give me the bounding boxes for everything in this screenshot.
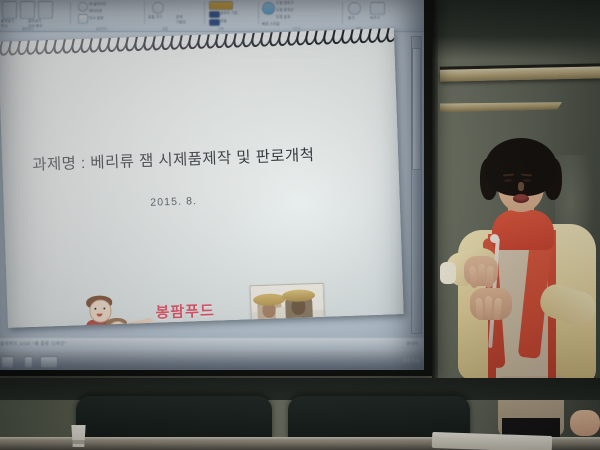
- ribbon-group-font[interactable]: 글꼴 크기 굵게 기울임 글꼴: [148, 0, 200, 30]
- status-bar-text: 슬라이드 1/10 "새 종류 디자인": [0, 341, 67, 347]
- ribbon-group-editing[interactable]: 찾기 바꾸기 편집: [346, 0, 392, 30]
- numbering-icon[interactable]: [209, 11, 220, 18]
- presenter-mouth: [513, 194, 529, 203]
- align-icon[interactable]: [209, 19, 220, 26]
- ribbon-item-label: 잘라내기: [28, 19, 41, 23]
- ribbon-item-label: 도형 효과: [276, 15, 290, 19]
- projection-screen-frame: 붙여넣기 잘라내기 복사 서식 복사 클립보드 새 슬라이드 레이아웃 다시 설…: [0, 0, 432, 376]
- layout-icon[interactable]: [78, 14, 88, 24]
- status-bar-language: 한국어: [406, 341, 418, 347]
- ribbon-item-label: 레이아웃: [89, 9, 102, 13]
- presenter-nose: [518, 182, 524, 191]
- brand-logo-text: 봉팜푸드: [155, 300, 215, 323]
- ribbon-item-label: 빠른 스타일: [262, 22, 280, 26]
- new-slide-icon[interactable]: [78, 2, 88, 12]
- ribbon-item-label: 새 슬라이드: [89, 2, 107, 6]
- start-button-icon[interactable]: [1, 356, 14, 368]
- bullets-icon[interactable]: [209, 1, 233, 10]
- ribbon-item-label: 도형 윤곽선: [276, 8, 294, 12]
- ribbon-group-drawing[interactable]: 도형 채우기 도형 윤곽선 도형 효과 빠른 스타일 그리기: [262, 0, 338, 30]
- ribbon-group-slides[interactable]: 새 슬라이드 레이아웃 다시 설정 슬라이드: [76, 0, 140, 30]
- paper-cup-band: [72, 440, 85, 444]
- ribbon-item-label: 글머리 기호: [220, 11, 238, 15]
- ribbon-item-label: 굵게: [176, 15, 183, 19]
- slide-title: 과제명 : 베리류 잼 시제품제작 및 판로개척: [32, 141, 373, 175]
- scrollbar-thumb[interactable]: [412, 48, 421, 170]
- eye-left: [504, 179, 512, 182]
- taskbar-clock: 오후 3:42: [403, 358, 420, 364]
- slide-glare: [0, 28, 404, 328]
- ribbon-item-label: 붙여넣기: [1, 19, 14, 23]
- paste-icon[interactable]: [2, 1, 17, 19]
- find-icon[interactable]: [348, 2, 361, 15]
- handout-papers-right: [432, 432, 552, 450]
- taskbar-quicklaunch-icon[interactable]: [24, 356, 33, 368]
- chair-left: [76, 396, 272, 442]
- presentation-slide[interactable]: 과제명 : 베리류 잼 시제품제작 및 판로개척 2015. 8. 봉팜푸드: [0, 28, 404, 328]
- windows-taskbar[interactable]: 오후 3:42: [0, 352, 424, 370]
- cut-icon[interactable]: [20, 1, 35, 19]
- projection-screen: 붙여넣기 잘라내기 복사 서식 복사 클립보드 새 슬라이드 레이아웃 다시 설…: [0, 0, 424, 370]
- ribbon-item-label: 정렬: [220, 19, 227, 23]
- pointer-tip: [490, 234, 499, 243]
- powerpoint-status-bar: 슬라이드 1/10 "새 종류 디자인" 한국어: [0, 338, 424, 352]
- ribbon-item-label: 도형 채우기: [276, 1, 294, 5]
- eye-right: [523, 179, 531, 182]
- ribbon-item-label: 찾기: [348, 16, 355, 20]
- powerpoint-window: 붙여넣기 잘라내기 복사 서식 복사 클립보드 새 슬라이드 레이아웃 다시 설…: [0, 0, 424, 370]
- ribbon-group-paragraph[interactable]: 글머리 기호 정렬 단락: [208, 0, 254, 30]
- audience-hand: [570, 410, 600, 436]
- replace-icon[interactable]: [370, 2, 385, 15]
- shapes-icon[interactable]: [262, 2, 275, 15]
- copy-icon[interactable]: [38, 1, 53, 19]
- taskbar-powerpoint-icon[interactable]: [40, 356, 58, 368]
- photo-scene: 붙여넣기 잘라내기 복사 서식 복사 클립보드 새 슬라이드 레이아웃 다시 설…: [0, 0, 600, 450]
- ribbon-item-label: 바꾸기: [370, 16, 380, 20]
- ribbon-item-label: 글꼴 크기: [148, 15, 162, 19]
- slide-date: 2015. 8.: [4, 190, 344, 214]
- ribbon-group-clipboard[interactable]: 붙여넣기 잘라내기 복사 서식 복사 클립보드: [0, 0, 66, 30]
- slide-container[interactable]: 과제명 : 베리류 잼 시제품제작 및 판로개척 2015. 8. 봉팜푸드: [0, 28, 406, 330]
- font-icon[interactable]: [152, 2, 164, 14]
- cartoon-boy-illustration: [67, 292, 155, 328]
- ribbon-item-label: 기울임: [176, 20, 186, 24]
- presenter-scarf: [492, 210, 554, 250]
- sleeve-cuff: [440, 262, 456, 284]
- ribbon-item-label: 다시 설정: [89, 16, 103, 20]
- ribbon-item-label: 복사: [1, 24, 8, 28]
- powerpoint-ribbon[interactable]: 붙여넣기 잘라내기 복사 서식 복사 클립보드 새 슬라이드 레이아웃 다시 설…: [0, 0, 424, 32]
